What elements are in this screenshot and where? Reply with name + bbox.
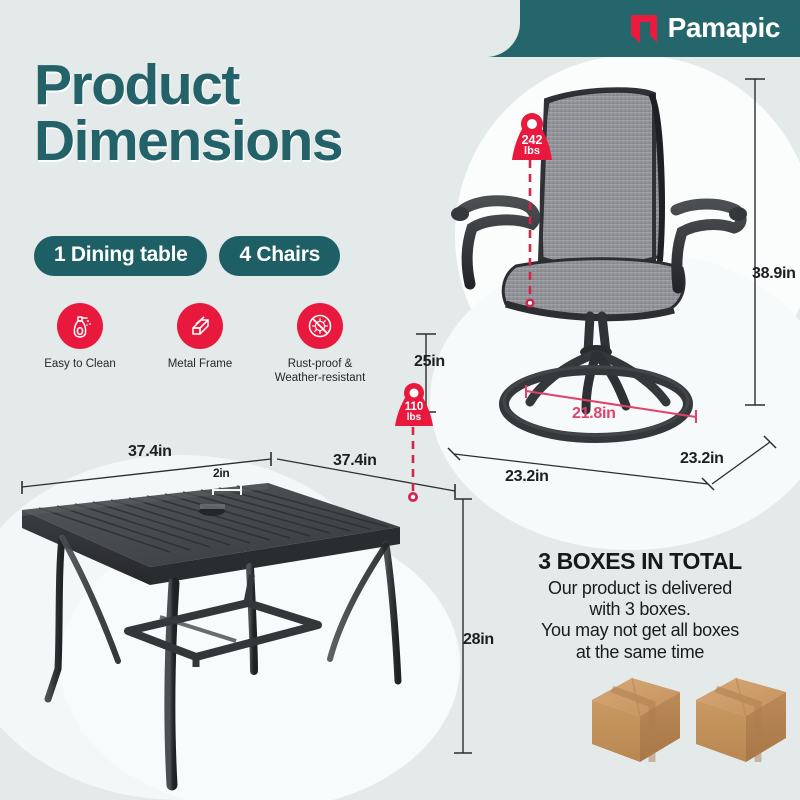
feature-list: Easy to Clean Metal Frame	[20, 303, 380, 385]
boxes-info: 3 BOXES IN TOTAL Our product is delivere…	[480, 548, 800, 663]
chair-weight-badge: 242 lbs	[508, 112, 556, 162]
infographic-canvas: 242 lbs 38.9in 25in 21.8in 23.2in 23.2in	[0, 0, 800, 800]
feature-rust-proof: Rust-proof & Weather-resistant	[260, 303, 380, 385]
chair-weight-unit: lbs	[508, 146, 556, 157]
table-weight-badge: 110 lbs	[392, 382, 436, 428]
title-line-1: Product	[34, 58, 342, 114]
chair-weight-dashline	[527, 160, 533, 308]
brand-logo: Pamapic	[629, 9, 780, 47]
feature-label-rust-proof: Rust-proof & Weather-resistant	[275, 357, 366, 385]
header-notch	[0, 0, 520, 57]
feature-label-easy-to-clean: Easy to Clean	[44, 357, 116, 371]
boxes-line-1: Our product is delivered	[480, 578, 800, 599]
pill-dining-table[interactable]: 1 Dining table	[34, 236, 207, 276]
feature-easy-to-clean: Easy to Clean	[20, 303, 140, 385]
no-rust-germ-icon	[297, 303, 343, 349]
chair-seat-height-label: 25in	[414, 353, 445, 371]
feature-metal-frame: Metal Frame	[140, 303, 260, 385]
umbrella-hole-label: 2in	[213, 466, 229, 480]
cardboard-boxes-illustration	[588, 670, 800, 780]
chair-width-label: 23.2in	[680, 450, 724, 468]
title-line-2: Dimensions	[34, 114, 342, 170]
product-contents-pills: 1 Dining table 4 Chairs	[34, 236, 340, 276]
chair-height-label: 38.9in	[752, 265, 796, 283]
chair-footprint-dimension-lines	[440, 440, 780, 500]
chair-base-diameter-line	[520, 385, 710, 425]
metal-sheets-icon	[177, 303, 223, 349]
umbrella-hole-bracket	[208, 482, 252, 498]
boxes-line-3: You may not get all boxes	[480, 620, 800, 641]
table-weight-unit: lbs	[392, 413, 436, 423]
table-height-label: 28in	[463, 631, 494, 649]
boxes-line-2: with 3 boxes.	[480, 599, 800, 620]
chair-depth-label: 23.2in	[505, 468, 549, 486]
boxes-title: 3 BOXES IN TOTAL	[480, 548, 800, 575]
pamapic-r-mark-icon	[629, 13, 659, 44]
brand-name: Pamapic	[668, 14, 780, 42]
table-weight-dashline	[409, 427, 417, 505]
umbrella-hole	[199, 504, 225, 516]
table-illustration	[0, 455, 420, 800]
boxes-line-4: at the same time	[480, 642, 800, 663]
pill-chairs[interactable]: 4 Chairs	[219, 236, 339, 276]
box-2	[696, 678, 786, 762]
table-height-dimension-line	[448, 495, 478, 765]
table-depth-label: 37.4in	[333, 452, 377, 470]
box-1	[592, 678, 680, 762]
table-width-label: 37.4in	[128, 443, 172, 461]
page-title: Product Dimensions	[34, 58, 342, 170]
spray-bottle-icon	[57, 303, 103, 349]
feature-label-metal-frame: Metal Frame	[168, 357, 233, 371]
